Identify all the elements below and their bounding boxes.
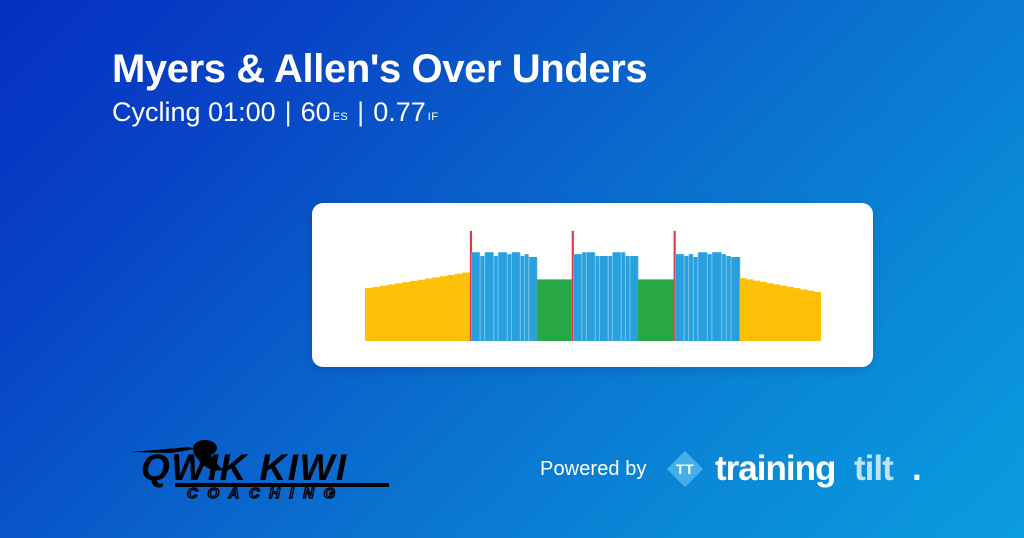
profile-interval-bar — [712, 252, 721, 341]
profile-interval-bar — [494, 256, 497, 341]
trainingtilt-wordmark: training tilt . — [715, 449, 929, 489]
profile-interval-bar — [708, 254, 711, 341]
intensity-factor: 0.77IF — [373, 97, 438, 128]
workout-summary: Cycling 01:00 | 60ES | 0.77IF — [112, 97, 932, 128]
profile-interval-bar — [626, 256, 629, 341]
workout-profile-card — [312, 203, 873, 367]
profile-interval-bar — [499, 252, 507, 341]
profile-interval-bar — [609, 256, 612, 341]
header: Myers & Allen's Over Unders Cycling 01:0… — [112, 48, 932, 128]
sport-and-duration: Cycling 01:00 — [112, 97, 276, 128]
profile-interval-bar — [521, 256, 524, 341]
profile-interval-bar — [508, 254, 511, 341]
effort-score-unit: ES — [333, 111, 348, 123]
profile-interval-bar — [596, 256, 599, 341]
qwik-kiwi-logo-art: QWIK KIWI COACHING — [131, 438, 403, 500]
profile-segment-ramp — [365, 273, 470, 341]
qwik-kiwi-wordmark-text: QWIK KIWI — [141, 447, 348, 488]
trainingtilt-diamond-art: TT — [663, 447, 707, 491]
profile-interval-bar — [574, 254, 582, 341]
profile-interval-bar — [481, 256, 484, 341]
profile-interval-bar — [525, 254, 528, 341]
summary-separator-2: | — [348, 97, 373, 128]
footer: QWIK KIWI COACHING Powered by TT trainin… — [0, 424, 1024, 514]
qwik-kiwi-coaching-logo: QWIK KIWI COACHING — [131, 438, 403, 500]
workout-profile-svg — [365, 229, 821, 341]
profile-interval-bar — [675, 254, 683, 341]
profile-interval-bar — [698, 252, 706, 341]
profile-interval-bar — [512, 252, 520, 341]
profile-segment-ramp — [740, 278, 821, 341]
page-title: Myers & Allen's Over Unders — [112, 48, 932, 91]
intensity-factor-value: 0.77 — [373, 97, 426, 127]
duration-label: 01:00 — [208, 97, 276, 127]
profile-interval-bar — [689, 254, 693, 341]
profile-segment-recovery — [537, 279, 572, 341]
profile-interval-bar — [685, 256, 688, 341]
profile-interval-bar — [622, 252, 625, 341]
trainingtilt-monogram-text: TT — [676, 461, 694, 477]
workout-profile-chart — [365, 229, 821, 341]
profile-interval-bar — [485, 252, 493, 341]
powered-by-label: Powered by — [540, 458, 647, 481]
profile-interval-bar — [727, 256, 731, 341]
profile-segment-recovery — [638, 279, 674, 341]
trainingtilt-wordmark-part1: training — [715, 449, 835, 488]
profile-interval-bar — [582, 252, 585, 341]
profile-interval-bar — [613, 252, 621, 341]
profile-interval-bar — [472, 252, 480, 341]
intensity-factor-unit: IF — [428, 111, 439, 123]
trainingtilt-diamond-icon: TT — [663, 447, 707, 491]
profile-interval-bar — [694, 257, 697, 341]
trainingtilt-wordmark-part2: tilt — [854, 449, 894, 488]
profile-interval-bar — [587, 252, 595, 341]
profile-interval-bar — [722, 254, 725, 341]
profile-interval-bar — [600, 256, 608, 341]
summary-separator-1: | — [276, 97, 301, 128]
qwik-kiwi-wordmark: QWIK KIWI — [141, 447, 389, 488]
powered-by-trainingtilt: Powered by TT training tilt . — [540, 442, 929, 496]
profile-interval-bar — [732, 257, 740, 341]
effort-score: 60ES — [301, 97, 349, 128]
coaching-subtitle-text: COACHING — [187, 485, 345, 500]
trainingtilt-wordmark-dot: . — [912, 449, 922, 488]
profile-interval-bar — [630, 256, 637, 341]
sport-label: Cycling — [112, 97, 201, 127]
effort-score-value: 60 — [301, 97, 331, 127]
profile-interval-bar — [529, 257, 536, 341]
